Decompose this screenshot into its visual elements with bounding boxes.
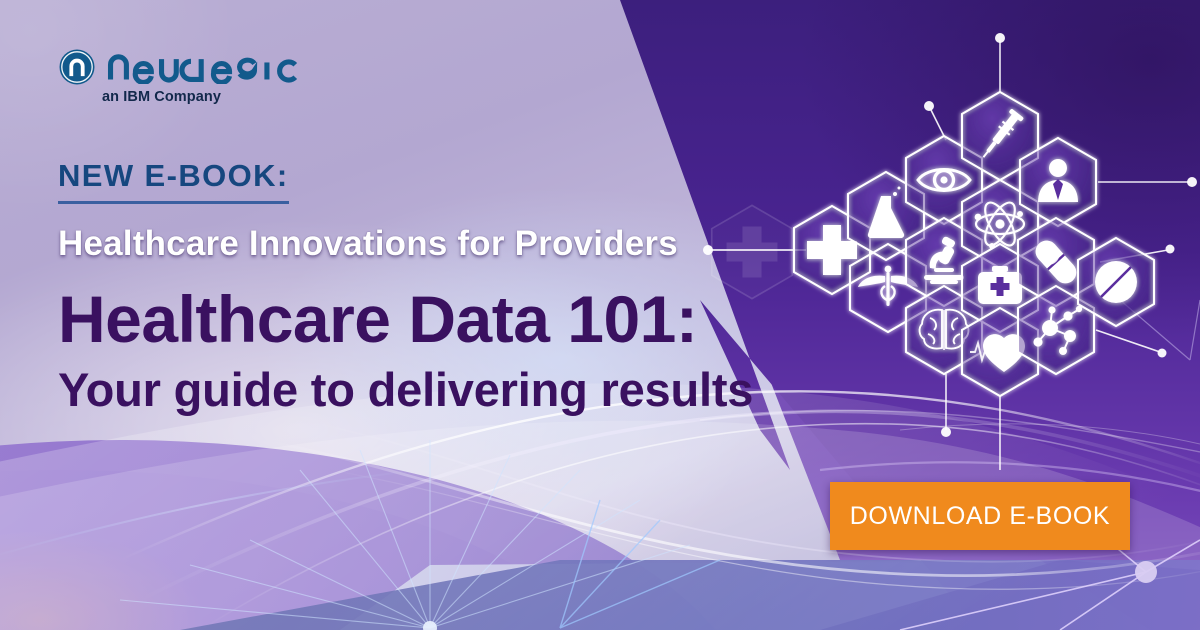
hex-syringe-icon — [962, 92, 1038, 180]
hex-capsule-pill-icon — [1018, 218, 1094, 306]
neudesic-circle-n-logo-icon — [58, 48, 96, 86]
hex-eye-icon — [906, 136, 982, 224]
hex-medical-cross-icon — [794, 206, 870, 294]
download-ebook-button[interactable]: DOWNLOAD E-BOOK — [830, 482, 1130, 550]
hex-doctor-person-icon — [1020, 138, 1096, 226]
headline-line-1: Healthcare Data 101: — [58, 286, 697, 352]
logo-row — [58, 48, 350, 86]
ghost-hexagon-medical-cross — [712, 205, 793, 298]
ebook-promo-banner: an IBM Company NEW E-BOOK: Healthcare In… — [0, 0, 1200, 630]
brand-logo[interactable]: an IBM Company — [58, 48, 350, 105]
neudesic-wordmark — [106, 50, 350, 84]
hex-medical-bag-icon — [962, 244, 1038, 332]
hex-heart-pulse-icon — [962, 308, 1038, 396]
hex-flask-icon — [848, 172, 924, 260]
hex-molecule-icon — [1018, 286, 1094, 374]
hex-atom-icon — [962, 180, 1038, 268]
logo-tagline: an IBM Company — [102, 89, 221, 105]
eyebrow-label: NEW E-BOOK: — [58, 158, 289, 204]
hex-tablet-pill-icon — [1078, 238, 1154, 326]
hex-caduceus-icon — [850, 244, 926, 332]
subheadline: Healthcare Innovations for Providers — [58, 224, 678, 264]
hex-microscope-icon — [906, 218, 982, 306]
connector-line-providers — [703, 245, 806, 255]
headline-line-2: Your guide to delivering results — [58, 366, 753, 413]
hex-brain-icon — [906, 286, 982, 374]
